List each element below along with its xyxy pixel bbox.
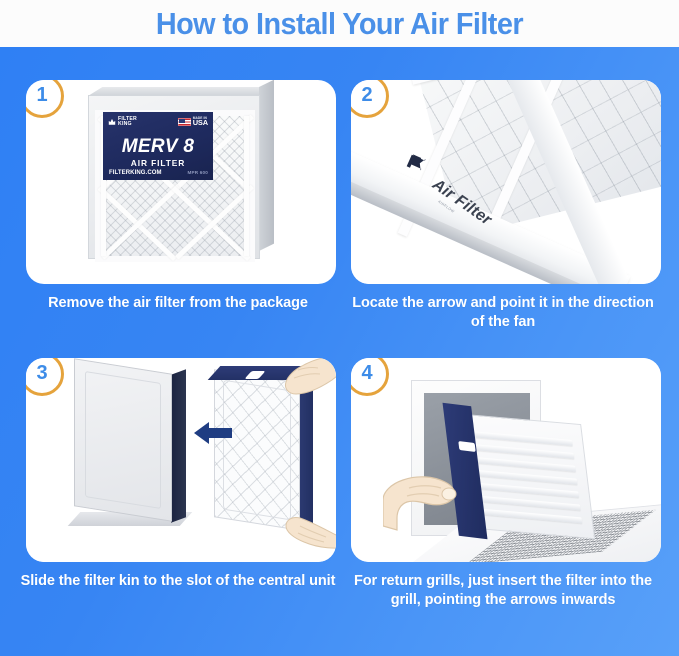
label-bottom-row: FILTERKING.COM MPR 600 bbox=[109, 170, 208, 176]
header-band: How to Install Your Air Filter bbox=[0, 0, 679, 47]
hand-top-icon bbox=[264, 358, 336, 402]
steps-grid: 1 bbox=[0, 47, 679, 656]
merv-rating: MERV 8 bbox=[108, 137, 208, 156]
step-3-card: 3 bbox=[26, 358, 336, 562]
step-3-art bbox=[26, 358, 336, 562]
step-1-number: 1 bbox=[36, 85, 47, 107]
product-subtitle: AIR FILTER bbox=[108, 158, 208, 168]
grill-louver bbox=[472, 495, 581, 510]
grill-louver bbox=[464, 431, 573, 446]
usa-flag-icon bbox=[178, 118, 191, 126]
crown-icon bbox=[108, 117, 116, 126]
filter-front-face: FILTER KING MADE IN bbox=[88, 95, 260, 259]
slide-filter-into-unit-illustration bbox=[26, 358, 336, 562]
body-area: 1 bbox=[0, 47, 679, 656]
usa-text: MADE IN USA bbox=[193, 117, 208, 127]
country-label: USA bbox=[193, 120, 208, 127]
step-1: 1 bbox=[20, 80, 336, 313]
central-unit-box bbox=[74, 358, 172, 522]
return-grill-insert-illustration bbox=[351, 358, 661, 562]
unit-panel-inset bbox=[85, 371, 161, 509]
step-3-caption: Slide the filter kin to the slot of the … bbox=[20, 572, 336, 591]
grill-louver bbox=[470, 482, 579, 497]
hand-bottom-icon bbox=[274, 506, 336, 550]
website-label: FILTERKING.COM bbox=[109, 170, 162, 176]
step-4-caption: For return grills, just insert the filte… bbox=[345, 572, 661, 610]
product-label: FILTER KING MADE IN bbox=[103, 112, 213, 180]
support-rib bbox=[244, 116, 249, 256]
step-2-caption: Locate the arrow and point it in the dir… bbox=[345, 294, 661, 332]
step-4-card: 4 bbox=[351, 358, 661, 562]
hand-icon bbox=[383, 454, 479, 534]
page-title: How to Install Your Air Filter bbox=[156, 6, 523, 42]
step-4-number: 4 bbox=[361, 363, 372, 385]
brand-line-2: KING bbox=[118, 122, 137, 127]
step-1-card: 1 bbox=[26, 80, 336, 284]
unit-slot-dark-edge bbox=[171, 369, 186, 522]
grill-louver bbox=[467, 456, 576, 471]
mpr-label: MPR 600 bbox=[187, 170, 208, 175]
grill-louver bbox=[474, 508, 583, 523]
air-filter-product-photo: FILTER KING MADE IN bbox=[88, 87, 274, 259]
made-in-usa-badge: MADE IN USA bbox=[178, 117, 208, 127]
step-3-number: 3 bbox=[36, 363, 47, 385]
grill-louver bbox=[466, 443, 575, 458]
step-4-art bbox=[351, 358, 661, 562]
step-2-art: Air Filter AIRFLOW bbox=[351, 80, 661, 284]
step-1-art: FILTER KING MADE IN bbox=[26, 80, 336, 284]
step-2-number: 2 bbox=[361, 85, 372, 107]
infographic-root: How to Install Your Air Filter 1 bbox=[0, 0, 679, 656]
filter-king-logo: FILTER KING bbox=[108, 117, 137, 127]
step-3: 3 bbox=[20, 358, 336, 591]
step-2-card: 2 bbox=[351, 80, 661, 284]
insert-direction-arrow bbox=[194, 420, 232, 446]
grill-louver bbox=[469, 469, 578, 484]
brand-text: FILTER KING bbox=[118, 117, 137, 127]
label-top-row: FILTER KING MADE IN bbox=[108, 115, 208, 128]
filter-side-edge bbox=[259, 80, 274, 251]
step-2: 2 bbox=[345, 80, 661, 332]
step-4: 4 bbox=[345, 358, 661, 610]
filter-corner-closeup: Air Filter AIRFLOW bbox=[351, 80, 661, 284]
step-1-caption: Remove the air filter from the package bbox=[20, 294, 336, 313]
